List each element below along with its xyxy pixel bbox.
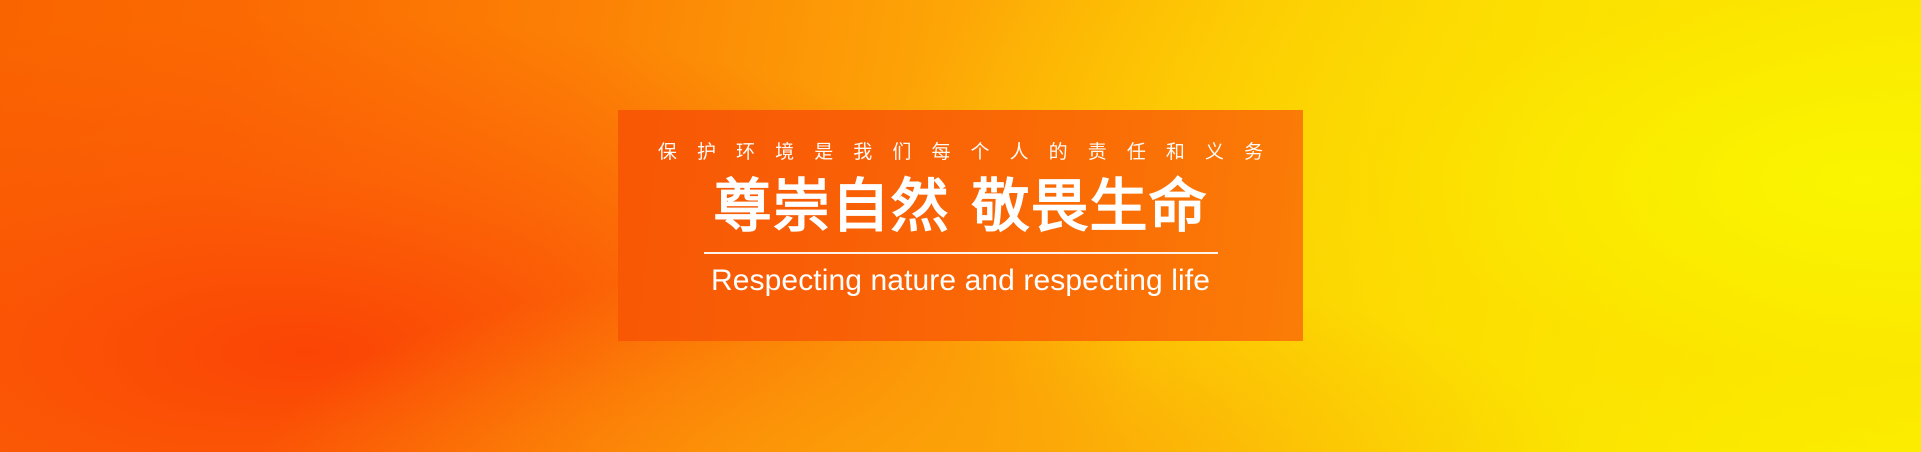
headline-part-one: 尊崇自然 xyxy=(713,174,949,239)
panel-headline: 尊崇自然敬畏生命 xyxy=(713,178,1207,236)
message-panel: 保 护 环 境 是 我 们 每 个 人 的 责 任 和 义 务 尊崇自然敬畏生命… xyxy=(618,110,1303,341)
panel-english-tagline: Respecting nature and respecting life xyxy=(711,266,1210,296)
headline-part-two: 敬畏生命 xyxy=(972,174,1208,239)
panel-subtitle: 保 护 环 境 是 我 们 每 个 人 的 责 任 和 义 务 xyxy=(651,143,1271,162)
environment-banner: 保 护 环 境 是 我 们 每 个 人 的 责 任 和 义 务 尊崇自然敬畏生命… xyxy=(0,0,1921,452)
panel-divider xyxy=(704,252,1218,254)
